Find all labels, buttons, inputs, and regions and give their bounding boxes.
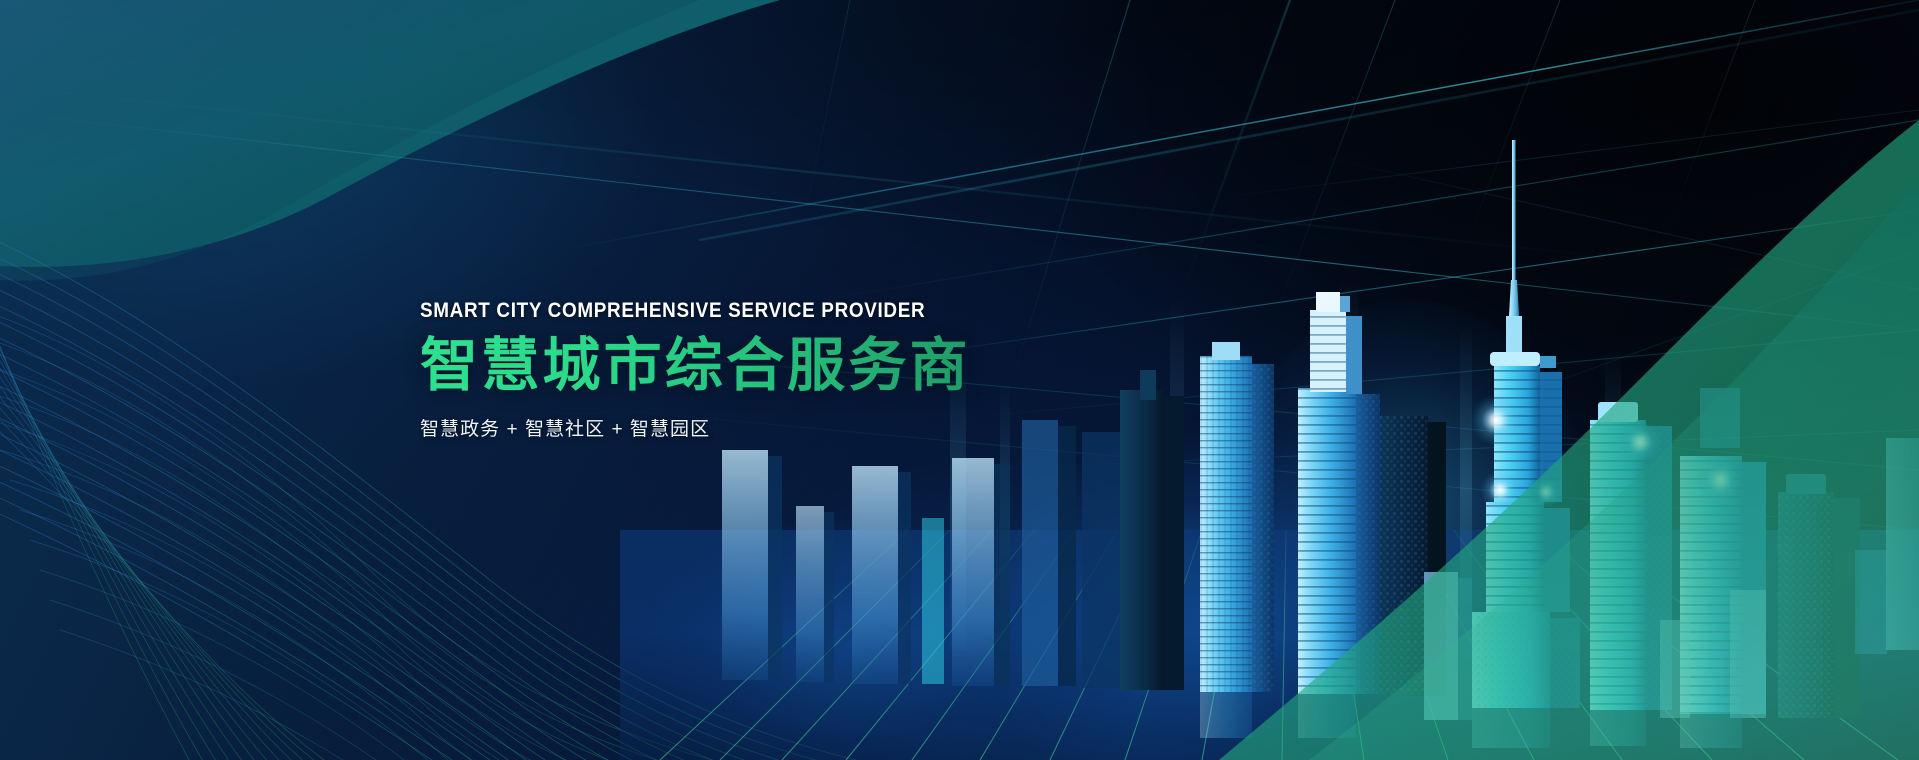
- hero-subline-services: 智慧政务 + 智慧社区 + 智慧园区: [420, 414, 1180, 441]
- smart-city-hero-banner: SMART CITY COMPREHENSIVE SERVICE PROVIDE…: [0, 0, 1919, 760]
- hero-eyebrow-english: SMART CITY COMPREHENSIVE SERVICE PROVIDE…: [420, 300, 1104, 321]
- hero-copy-block: SMART CITY COMPREHENSIVE SERVICE PROVIDE…: [420, 300, 1180, 441]
- hero-headline-chinese: 智慧城市综合服务商: [420, 335, 1180, 398]
- right-green-overlay-wave: [1219, 120, 1919, 760]
